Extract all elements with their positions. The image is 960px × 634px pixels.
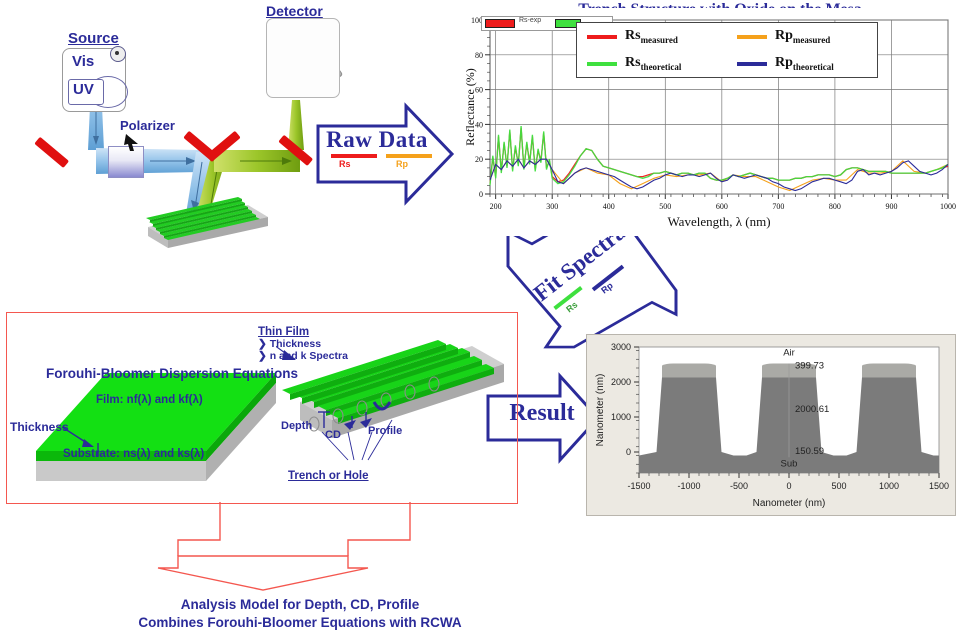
inner-legend-label: Rs-exp [519, 17, 541, 24]
svg-text:Wavelength, λ (nm): Wavelength, λ (nm) [667, 214, 770, 229]
legend-label-rp-theoretical: Rptheoretical [775, 55, 834, 72]
svg-text:1500: 1500 [929, 481, 949, 491]
legend-item-rp-measured: Rpmeasured [727, 23, 877, 50]
spectral-chart-legend: Rsmeasured Rpmeasured Rstheoretical Rpth… [576, 22, 878, 78]
legend-swatch-rp-theoretical [737, 62, 767, 66]
substrate-index-label: Substrate: ns(λ) and ks(λ) [63, 448, 204, 460]
svg-text:400: 400 [603, 202, 615, 211]
legend-item-rs-measured: Rsmeasured [577, 23, 727, 50]
svg-text:Air: Air [783, 347, 795, 358]
caption-line-2: Combines Forouhi-Bloomer Equations with … [60, 614, 540, 632]
svg-text:20: 20 [475, 155, 483, 164]
detector-label: Detector [266, 3, 323, 19]
legend-swatch-rp-measured [737, 35, 767, 39]
svg-text:600: 600 [716, 202, 728, 211]
polarizer-label: Polarizer [120, 118, 175, 133]
svg-text:399.73: 399.73 [795, 360, 824, 371]
legend-label-rp-measured: Rpmeasured [775, 28, 830, 45]
svg-text:1000: 1000 [879, 481, 899, 491]
polarizer-pointer-icon [122, 132, 144, 152]
svg-text:80: 80 [475, 51, 483, 60]
legend-swatch-rs-measured [587, 35, 617, 39]
svg-text:0: 0 [626, 447, 631, 457]
caption-line-1: Analysis Model for Depth, CD, Profile [60, 596, 540, 614]
legend-item-rp-theoretical: Rptheoretical [727, 50, 877, 77]
detector-beam-horizontal [214, 150, 300, 172]
analysis-caption: Analysis Model for Depth, CD, Profile Co… [60, 596, 540, 632]
thin-film-bullet-1: ❯ Thickness [258, 338, 321, 350]
profile-label: Profile [368, 425, 402, 437]
profile-chart-svg: -1500-1000-5000500100015000100020003000A… [587, 335, 955, 515]
grating-sample-icon [146, 197, 268, 248]
legend-item-rs-theoretical: Rstheoretical [577, 50, 727, 77]
legend-label-rs-measured: Rsmeasured [625, 28, 678, 45]
svg-text:500: 500 [831, 481, 846, 491]
trench-or-hole-label: Trench or Hole [288, 470, 369, 482]
detector-box [266, 18, 340, 98]
svg-text:700: 700 [772, 202, 784, 211]
svg-text:2000: 2000 [611, 377, 631, 387]
svg-text:-1000: -1000 [677, 481, 700, 491]
raw-data-label: Raw Data [322, 127, 432, 153]
svg-text:200: 200 [490, 202, 502, 211]
svg-text:300: 300 [546, 202, 558, 211]
thin-film-bullet-2: ❯ n and k Spectra [258, 350, 348, 362]
raw-rp-swatch [386, 154, 432, 158]
thickness-label: Thickness [10, 420, 69, 434]
mirror-icon-1 [34, 137, 69, 168]
svg-text:900: 900 [885, 202, 897, 211]
svg-text:Nanometer (nm): Nanometer (nm) [595, 374, 606, 447]
svg-text:800: 800 [829, 202, 841, 211]
svg-text:3000: 3000 [611, 342, 631, 352]
vis-label: Vis [72, 53, 94, 70]
svg-text:150.59: 150.59 [795, 446, 824, 457]
legend-label-rs-theoretical: Rstheoretical [625, 55, 681, 72]
raw-rs-swatch [331, 154, 377, 158]
svg-text:1000: 1000 [940, 202, 956, 211]
legend-swatch-rs-theoretical [587, 62, 617, 66]
cd-label: CD [325, 429, 341, 441]
source-label: Source [68, 30, 119, 47]
raw-rp-label: Rp [396, 159, 408, 169]
depth-label: Depth [281, 420, 312, 432]
svg-text:500: 500 [659, 202, 671, 211]
red-flow-arrow [110, 500, 530, 592]
svg-text:0: 0 [786, 481, 791, 491]
uv-label: UV [73, 81, 94, 98]
lamp-filament-icon [115, 51, 119, 55]
svg-text:2000.61: 2000.61 [795, 404, 829, 415]
svg-text:0: 0 [479, 190, 483, 199]
film-index-label: Film: nf(λ) and kf(λ) [96, 394, 203, 406]
svg-text:-500: -500 [730, 481, 748, 491]
svg-text:Sub: Sub [781, 459, 798, 470]
svg-text:Nanometer (nm): Nanometer (nm) [753, 498, 826, 509]
svg-text:Reflectance (%): Reflectance (%) [463, 68, 477, 146]
profile-chart: -1500-1000-5000500100015000100020003000A… [586, 334, 956, 516]
thin-film-title: Thin Film [258, 326, 309, 338]
dispersion-equations-title: Forouhi-Bloomer Dispersion Equations [46, 366, 298, 381]
svg-text:1000: 1000 [611, 412, 631, 422]
svg-text:-1500: -1500 [627, 481, 650, 491]
inner-legend-rs-swatch [485, 19, 515, 28]
raw-rs-label: Rs [339, 159, 351, 169]
